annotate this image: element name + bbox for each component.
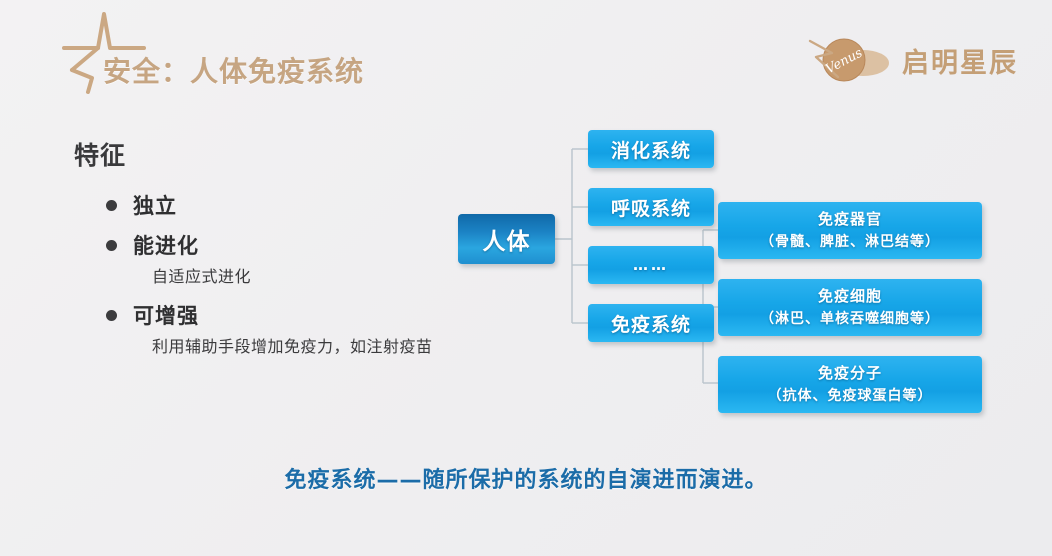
features-heading: 特征 — [74, 136, 474, 172]
immune-system-diagram: 人体 消化系统 呼吸系统 …… 免疫系统 免疫器官 （骨髓、脾脏、淋巴结等） 免… — [440, 118, 1010, 438]
diagram-node-digestive[interactable]: 消化系统 — [588, 130, 714, 168]
node-label: 免疫系统 — [611, 310, 691, 337]
diagram-node-immune[interactable]: 免疫系统 — [588, 304, 714, 342]
slide-header: 安全：人体免疫系统 Venus 启明星辰 — [0, 0, 1052, 106]
feature-row: 独立 — [74, 188, 474, 222]
diagram-node-immune-organs[interactable]: 免疫器官 （骨髓、脾脏、淋巴结等） — [718, 202, 982, 259]
node-label: 人体 — [483, 222, 531, 256]
bullet-icon — [106, 200, 117, 211]
diagram-node-immune-molecules[interactable]: 免疫分子 （抗体、免疫球蛋白等） — [718, 356, 982, 413]
node-label: 呼吸系统 — [611, 194, 691, 221]
logo-text: 启明星辰 — [902, 41, 1018, 80]
list-item: 可增强 利用辅助手段增加免疫力，如注射疫苗 — [74, 298, 474, 362]
page-title: 安全：人体免疫系统 — [103, 50, 364, 90]
feature-subtext: 利用辅助手段增加免疫力，如注射疫苗 — [74, 332, 474, 362]
node-title: 免疫分子 — [818, 362, 882, 385]
node-label: …… — [633, 256, 669, 274]
list-item: 独立 — [74, 188, 474, 222]
brand-logo: Venus 启明星辰 — [808, 32, 1018, 88]
bullet-icon — [106, 310, 117, 321]
bullet-icon — [106, 240, 117, 251]
diagram-node-root[interactable]: 人体 — [458, 214, 555, 264]
node-label: 消化系统 — [611, 136, 691, 163]
node-title: 免疫细胞 — [818, 285, 882, 308]
node-detail: （抗体、免疫球蛋白等） — [768, 385, 933, 408]
feature-row: 能进化 — [74, 228, 474, 262]
list-item: 能进化 自适应式进化 — [74, 228, 474, 292]
feature-label: 可增强 — [133, 300, 199, 330]
feature-label: 能进化 — [133, 230, 199, 260]
diagram-node-ellipsis[interactable]: …… — [588, 246, 714, 284]
node-detail: （淋巴、单核吞噬细胞等） — [760, 308, 940, 331]
venus-planet-icon: Venus — [808, 33, 894, 87]
node-detail: （骨髓、脾脏、淋巴结等） — [760, 231, 940, 254]
diagram-node-immune-cells[interactable]: 免疫细胞 （淋巴、单核吞噬细胞等） — [718, 279, 982, 336]
feature-subtext: 自适应式进化 — [74, 262, 474, 292]
features-panel: 特征 独立 能进化 自适应式进化 可增强 利用辅助手段增加免疫力，如注射疫苗 — [74, 136, 474, 368]
node-title: 免疫器官 — [818, 208, 882, 231]
diagram-node-respiratory[interactable]: 呼吸系统 — [588, 188, 714, 226]
slide-canvas: 安全：人体免疫系统 Venus 启明星辰 特征 独立 — [0, 0, 1052, 556]
feature-label: 独立 — [133, 190, 177, 220]
footer-statement: 免疫系统——随所保护的系统的自演进而演进。 — [0, 462, 1052, 494]
feature-row: 可增强 — [74, 298, 474, 332]
